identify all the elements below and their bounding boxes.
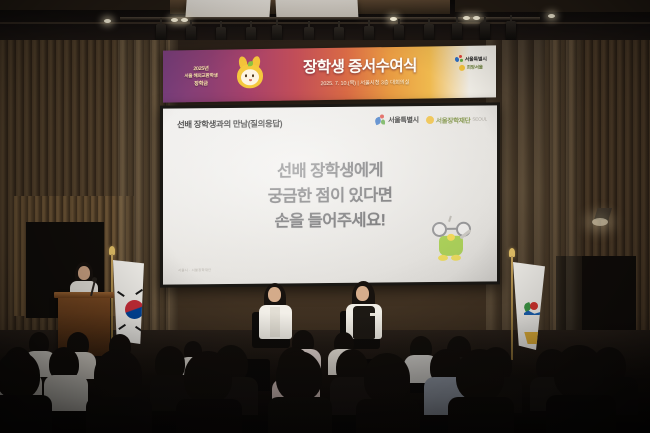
ceiling-downlight-icon — [181, 18, 188, 22]
banner-logo-group: 서울특별시 희망서울 — [450, 54, 492, 87]
seoul-flag-gold-band — [523, 332, 544, 344]
slide-line-2: 궁금한 점이 있다면 — [163, 182, 497, 210]
banner-left-line-1: 2025년 — [193, 65, 208, 72]
flag-cloth — [113, 260, 144, 344]
taeguk-symbol-icon — [125, 300, 144, 319]
hope-seoul-icon — [459, 65, 465, 71]
ceiling-downlight-icon — [463, 16, 470, 20]
banner-left-text-block: 2025년 서울 해외교환학생 장학금 — [169, 54, 233, 99]
banner-left-line-3: 장학금 — [194, 80, 208, 87]
seoul-city-logo-text: 서울특별시 — [465, 55, 487, 62]
foundation-logo-text: 서울장학재단 — [436, 114, 471, 124]
panelist-right — [344, 281, 386, 339]
ceiling-downlight-icon — [473, 16, 480, 20]
panelist-head — [268, 287, 281, 302]
lighting-truss-secondary — [0, 22, 650, 24]
ceiling-downlight-icon — [390, 17, 397, 21]
panelist-vest — [353, 306, 375, 339]
banner-left-line-2: 서울 해외교환학생 — [184, 73, 217, 80]
hope-seoul-logo-text: 희망서울 — [467, 65, 483, 71]
seoul-city-flag — [505, 250, 547, 360]
panelist-head — [356, 286, 369, 301]
seoul-symbol-icon — [375, 114, 386, 125]
foundation-logo-subtext: SEOUL — [472, 116, 487, 121]
panelist-blouse — [270, 307, 280, 337]
ceiling-downlight-icon — [171, 18, 178, 22]
seoul-city-logo: 서울특별시 — [455, 55, 487, 63]
flag-cloth — [513, 262, 545, 350]
podium-top — [54, 292, 114, 298]
ceiling-downlight-icon — [548, 14, 555, 18]
slide-footer: 서울시 · 서울장학재단 — [178, 267, 212, 272]
panelist-left — [256, 283, 296, 339]
seoul-city-logo: 서울특별시 — [375, 114, 419, 125]
banner-subtitle: 2025. 7. 10.(목) | 서울시청 3층 대회의실 — [267, 77, 463, 88]
seoul-flag-red-mark — [530, 302, 538, 310]
hope-seoul-logo: 희망서울 — [459, 65, 483, 71]
name-badge — [370, 313, 375, 316]
ceiling-panel-left — [0, 0, 175, 10]
slide-line-1: 선배 장학생에게 — [163, 157, 497, 185]
student-with-glasses-icon — [429, 220, 475, 268]
projection-screen: 선배 장학생과의 만남(질의응답) 서울특별시 서울장학재단 SEOUL 선배 … — [163, 105, 497, 284]
moderator-head — [78, 266, 90, 280]
seoul-city-logo-text: 서울특별시 — [388, 115, 419, 125]
seoul-symbol-icon — [455, 55, 463, 63]
wall-lamp-glow — [592, 218, 608, 226]
projection-screen-frame: 선배 장학생과의 만남(질의응답) 서울특별시 서울장학재단 SEOUL 선배 … — [160, 102, 500, 287]
slide-header: 선배 장학생과의 만남(질의응답) — [177, 117, 282, 130]
ceiling-downlight-icon — [104, 19, 111, 23]
event-banner: 2025년 서울 해외교환학생 장학금 장학생 증서수여식 2025. 7. 1… — [163, 45, 496, 102]
ceiling-acoustic-panel-1 — [185, 0, 270, 18]
slide-logo-group: 서울특별시 서울장학재단 SEOUL — [375, 113, 487, 125]
seoul-scholarship-foundation-logo: 서울장학재단 SEOUL — [426, 114, 487, 125]
banner-title: 장학생 증서수여식 — [267, 53, 453, 78]
auditorium-photo: 2025년 서울 해외교환학생 장학금 장학생 증서수여식 2025. 7. 1… — [0, 0, 650, 433]
foundation-icon — [426, 116, 434, 124]
haechi-mascot-icon — [235, 56, 265, 94]
ceiling-panel-right — [455, 0, 650, 12]
flag-pole — [511, 256, 513, 360]
